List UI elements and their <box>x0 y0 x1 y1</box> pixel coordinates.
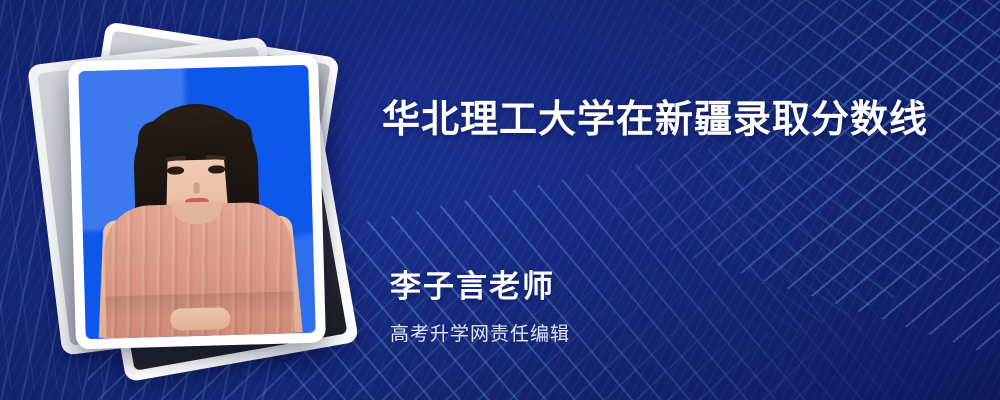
portrait-photo <box>78 65 315 339</box>
photo-card-stack <box>52 44 334 356</box>
article-header-banner: 华北理工大学在新疆录取分数线 李子言老师 高考升学网责任编辑 <box>0 0 1000 400</box>
portrait-hands <box>170 307 231 331</box>
banner-headline: 华北理工大学在新疆录取分数线 <box>382 100 928 138</box>
banner-text-column: 华北理工大学在新疆录取分数线 李子言老师 高考升学网责任编辑 <box>372 0 972 400</box>
portrait-photo-card <box>68 55 326 350</box>
portrait-figure <box>78 65 315 339</box>
author-name: 李子言老师 <box>390 272 555 303</box>
portrait-nose <box>193 182 199 194</box>
author-role: 高考升学网责任编辑 <box>390 325 570 344</box>
